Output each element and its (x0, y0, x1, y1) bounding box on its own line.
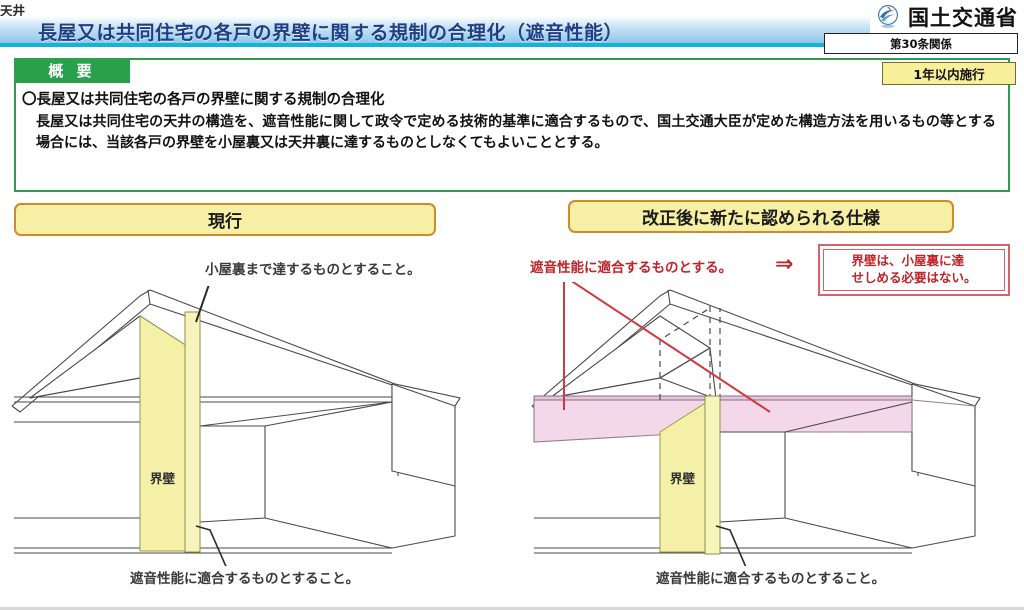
summary-body-text: 長屋又は共同住宅の天井の構造を、遮音性能に関して政令で定める技術的基準に適合する… (36, 112, 996, 155)
diagram-revised-spec (520, 282, 1020, 566)
page-title: 長屋又は共同住宅の各戸の界壁に関する規制の合理化（遮音性能） (38, 18, 623, 45)
article-badge: 第30条関係 (824, 33, 1018, 54)
slide-root: 長屋又は共同住宅の各戸の界壁に関する規制の合理化（遮音性能） 国土交通省 第30… (0, 0, 1024, 610)
title-bar: 長屋又は共同住宅の各戸の界壁に関する規制の合理化（遮音性能） (0, 16, 870, 46)
summary-heading: 〇長屋又は共同住宅の各戸の界壁に関する規制の合理化 (22, 88, 385, 109)
left-annotation-top: 小屋裏まで達するものとすること。 (205, 258, 421, 278)
diagram-current-spec (0, 286, 500, 566)
right-annotation-bottom: 遮音性能に適合するものとすること。 (656, 567, 885, 587)
left-annotation-bottom: 遮音性能に適合するものとすること。 (130, 567, 359, 587)
panel-caption-revised: 改正後に新たに認められる仕様 (568, 200, 954, 233)
right-annotation-top: 遮音性能に適合するものとする。 (530, 256, 732, 276)
enforcement-badge: 1年以内施行 (882, 62, 1016, 85)
right-note-line1: 界壁は、小屋裏に達 (851, 253, 976, 270)
ministry-name: 国土交通省 (908, 2, 1018, 32)
right-wall-label: 界壁 (670, 468, 695, 487)
ministry-branding: 国土交通省 (875, 2, 1018, 32)
title-underline-rule (0, 44, 870, 47)
summary-tab-label: 概 要 (14, 58, 130, 83)
panel-caption-current: 現行 (14, 203, 436, 236)
mlit-swirl-logo-icon (875, 4, 901, 30)
left-wall-label: 界壁 (150, 468, 175, 487)
double-arrow-icon: ⇒ (775, 254, 793, 276)
